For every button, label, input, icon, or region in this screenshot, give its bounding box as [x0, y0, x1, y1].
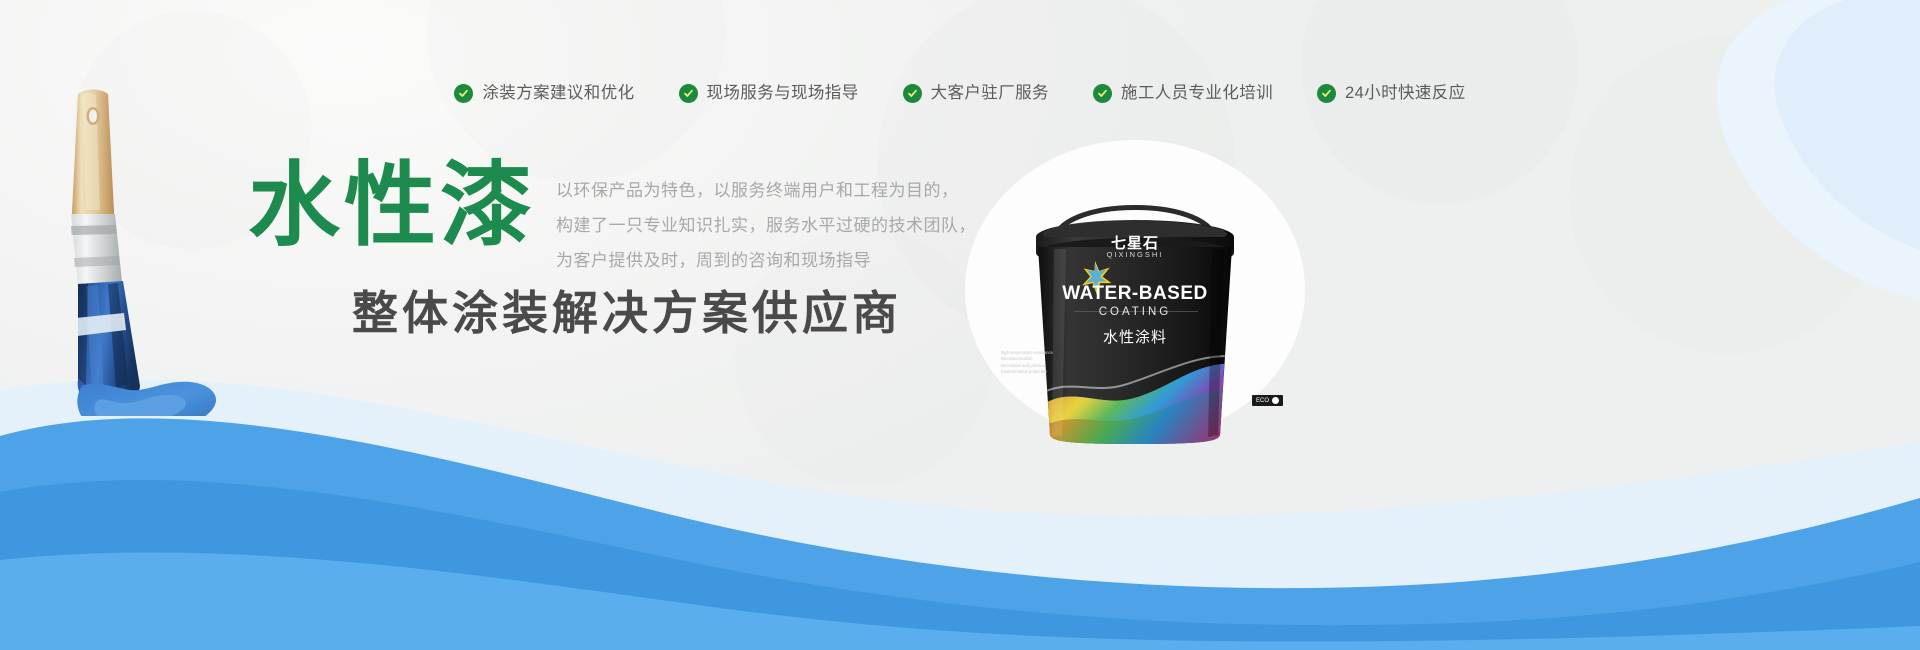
- check-circle-icon: [1317, 84, 1336, 103]
- product-spec-list: high temperature resistance Decontaminat…: [1001, 350, 1081, 375]
- paint-brush-icon: [52, 86, 232, 416]
- product-image-area: 七星石 QIXINGSHI WATER-BASED COATING 水性涂料 h…: [965, 140, 1305, 440]
- hero-headline-row: 水性漆 以环保产品为特色，以服务终端用户和工程为目的， 构建了一只专业知识扎实，…: [248, 158, 976, 279]
- hero-description-line: 以环保产品为特色，以服务终端用户和工程为目的，: [556, 174, 976, 209]
- hero-subtitle: 整体涂装解决方案供应商: [352, 286, 902, 341]
- feature-item[interactable]: 大客户驻厂服务: [903, 84, 1049, 103]
- feature-label: 施工人员专业化培训: [1121, 85, 1273, 102]
- page-title: 水性漆: [248, 158, 536, 255]
- product-title-cn: 水性涂料: [965, 326, 1305, 347]
- feature-item[interactable]: 现场服务与现场指导: [679, 84, 859, 103]
- hero-description: 以环保产品为特色，以服务终端用户和工程为目的， 构建了一只专业知识扎实，服务水平…: [556, 174, 976, 279]
- product-spec-line: Environmental protection: [1001, 369, 1081, 375]
- feature-item[interactable]: 24小时快速反应: [1317, 84, 1466, 103]
- blue-wave-decoration: [0, 230, 1920, 650]
- check-circle-icon: [903, 84, 922, 103]
- product-subtitle-en: COATING: [965, 306, 1305, 318]
- product-title-en: WATER-BASED: [965, 283, 1305, 305]
- feature-label: 24小时快速反应: [1345, 85, 1466, 102]
- feature-label: 涂装方案建议和优化: [482, 85, 634, 102]
- hero-description-line: 构建了一只专业知识扎实，服务水平过硬的技术团队，: [556, 209, 976, 244]
- hero-description-line: 为客户提供及时，周到的咨询和现场指导: [556, 244, 976, 279]
- feature-list: 涂装方案建议和优化 现场服务与现场指导 大客户驻厂服务: [0, 84, 1920, 103]
- feature-item[interactable]: 施工人员专业化培训: [1093, 84, 1273, 103]
- product-brand-en: QIXINGSHI: [965, 250, 1305, 259]
- check-circle-icon: [1093, 84, 1112, 103]
- check-circle-icon: [679, 84, 698, 103]
- feature-label: 大客户驻厂服务: [931, 85, 1049, 102]
- eco-label: ECO: [1256, 398, 1269, 404]
- eco-badge: ECO: [1252, 395, 1283, 406]
- feature-item[interactable]: 涂装方案建议和优化: [454, 84, 634, 103]
- check-circle-icon: [454, 84, 473, 103]
- hero-banner: 涂装方案建议和优化 现场服务与现场指导 大客户驻厂服务: [0, 0, 1920, 650]
- feature-label: 现场服务与现场指导: [707, 85, 859, 102]
- eco-dot-icon: [1272, 397, 1279, 404]
